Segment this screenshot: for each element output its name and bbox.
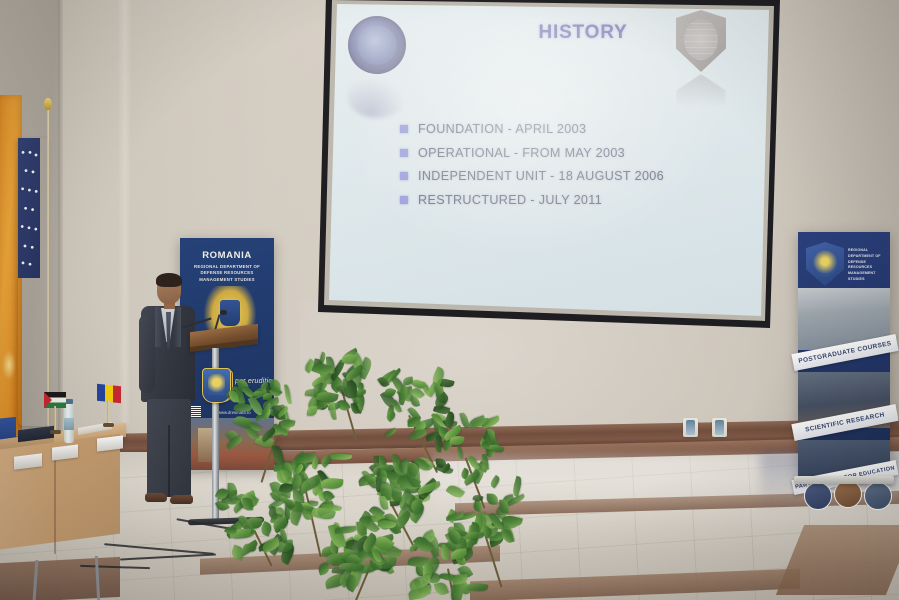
flag-finial-icon — [44, 98, 52, 110]
united-states-flag — [18, 128, 48, 428]
speaker-arm — [139, 315, 155, 393]
wall-socket — [712, 418, 727, 437]
desk-flag-base — [50, 430, 61, 434]
projector-glow — [358, 14, 738, 264]
banner-department: REGIONAL DEPARTMENT OF DEFENSE RESOURCES… — [798, 232, 890, 478]
lectern-emblem-icon — [202, 368, 231, 403]
lectern — [190, 328, 260, 528]
speaker-shoe — [145, 493, 167, 502]
palestine-flag-triangle-icon — [44, 392, 52, 408]
projection-screen: HISTORY FOUNDATION - APRIL 2003 OPERATIO… — [318, 0, 780, 334]
speaker-leg-separation — [168, 425, 170, 497]
department-crest-icon — [806, 242, 844, 286]
slide-content: HISTORY FOUNDATION - APRIL 2003 OPERATIO… — [318, 0, 780, 334]
wall-recess-edge — [58, 0, 63, 436]
orange-flag-emblem-icon — [2, 350, 16, 380]
microphone-icon — [220, 310, 227, 315]
romania-flag-cloth — [97, 384, 121, 404]
banner-title: ROMANIA — [180, 250, 274, 261]
banner-circle-photo — [804, 482, 832, 510]
wall-column — [118, 0, 132, 440]
wall-socket — [683, 418, 698, 437]
floor-inlay-band — [0, 557, 120, 600]
banner-circle-photo — [864, 482, 892, 510]
banner-stand-base — [794, 476, 894, 484]
romania-desk-flag — [97, 385, 119, 402]
table-panel-seam — [54, 456, 56, 554]
us-flag-stars-icon — [19, 142, 39, 272]
speaker-hair — [156, 273, 182, 287]
desk-flag-pole — [54, 406, 56, 432]
desk-flag-base — [103, 423, 114, 427]
desk-flag-pole — [107, 399, 109, 425]
water-bottle-label — [64, 418, 74, 430]
palestine-desk-flag — [44, 392, 66, 409]
banner-title: REGIONAL DEPARTMENT OF DEFENSE RESOURCES… — [848, 248, 888, 283]
conference-hall-scene: HISTORY FOUNDATION - APRIL 2003 OPERATIO… — [0, 0, 899, 600]
banner-circle-photo — [834, 480, 862, 508]
water-bottle-cap — [65, 399, 73, 404]
